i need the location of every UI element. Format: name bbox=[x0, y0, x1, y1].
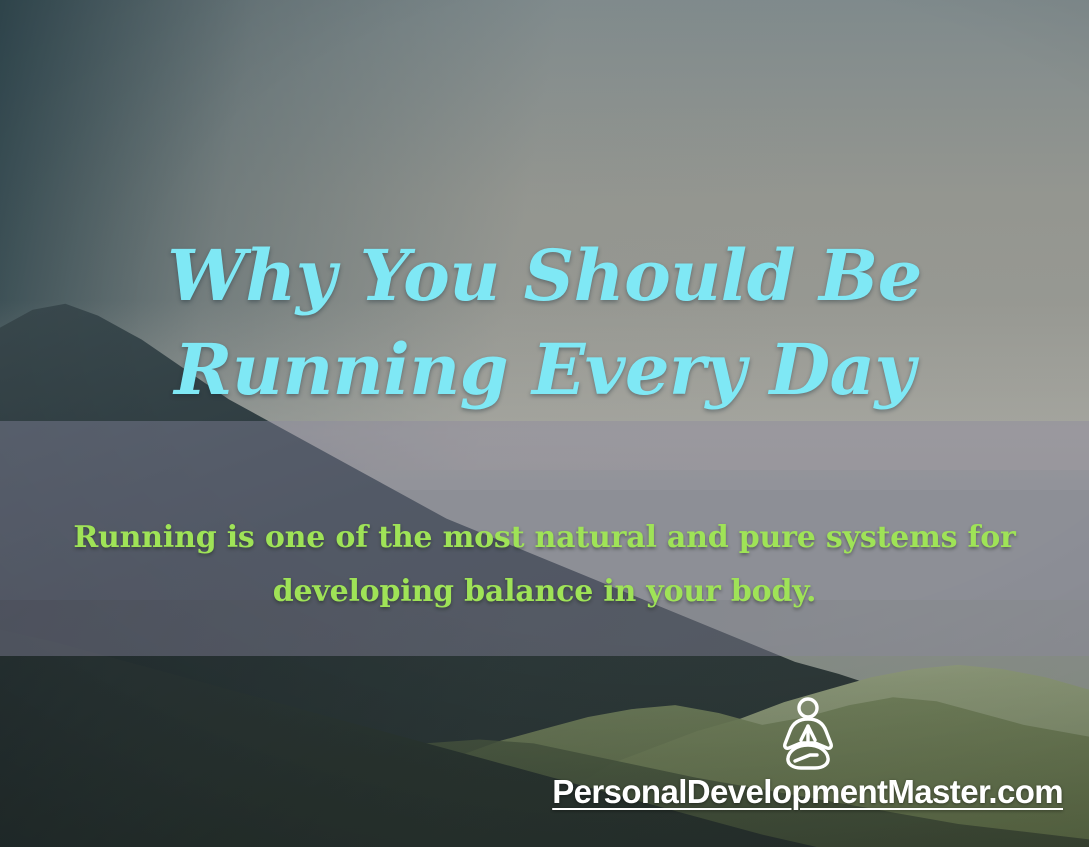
meditating-person-icon bbox=[777, 697, 839, 771]
brand-block[interactable]: PersonalDevelopmentMaster.com bbox=[552, 697, 1063, 811]
website-link[interactable]: PersonalDevelopmentMaster.com bbox=[552, 773, 1063, 811]
poster-canvas: Why You Should Be Running Every Day Runn… bbox=[0, 0, 1089, 847]
page-title-line-1: Why You Should Be bbox=[0, 229, 1089, 323]
quote-line-2: developing balance in your body. bbox=[0, 565, 1089, 619]
quote-line-1: Running is one of the most natural and p… bbox=[0, 511, 1089, 565]
page-title: Why You Should Be Running Every Day bbox=[0, 229, 1089, 417]
quote-text: Running is one of the most natural and p… bbox=[0, 511, 1089, 619]
page-title-line-2: Running Every Day bbox=[0, 323, 1089, 417]
